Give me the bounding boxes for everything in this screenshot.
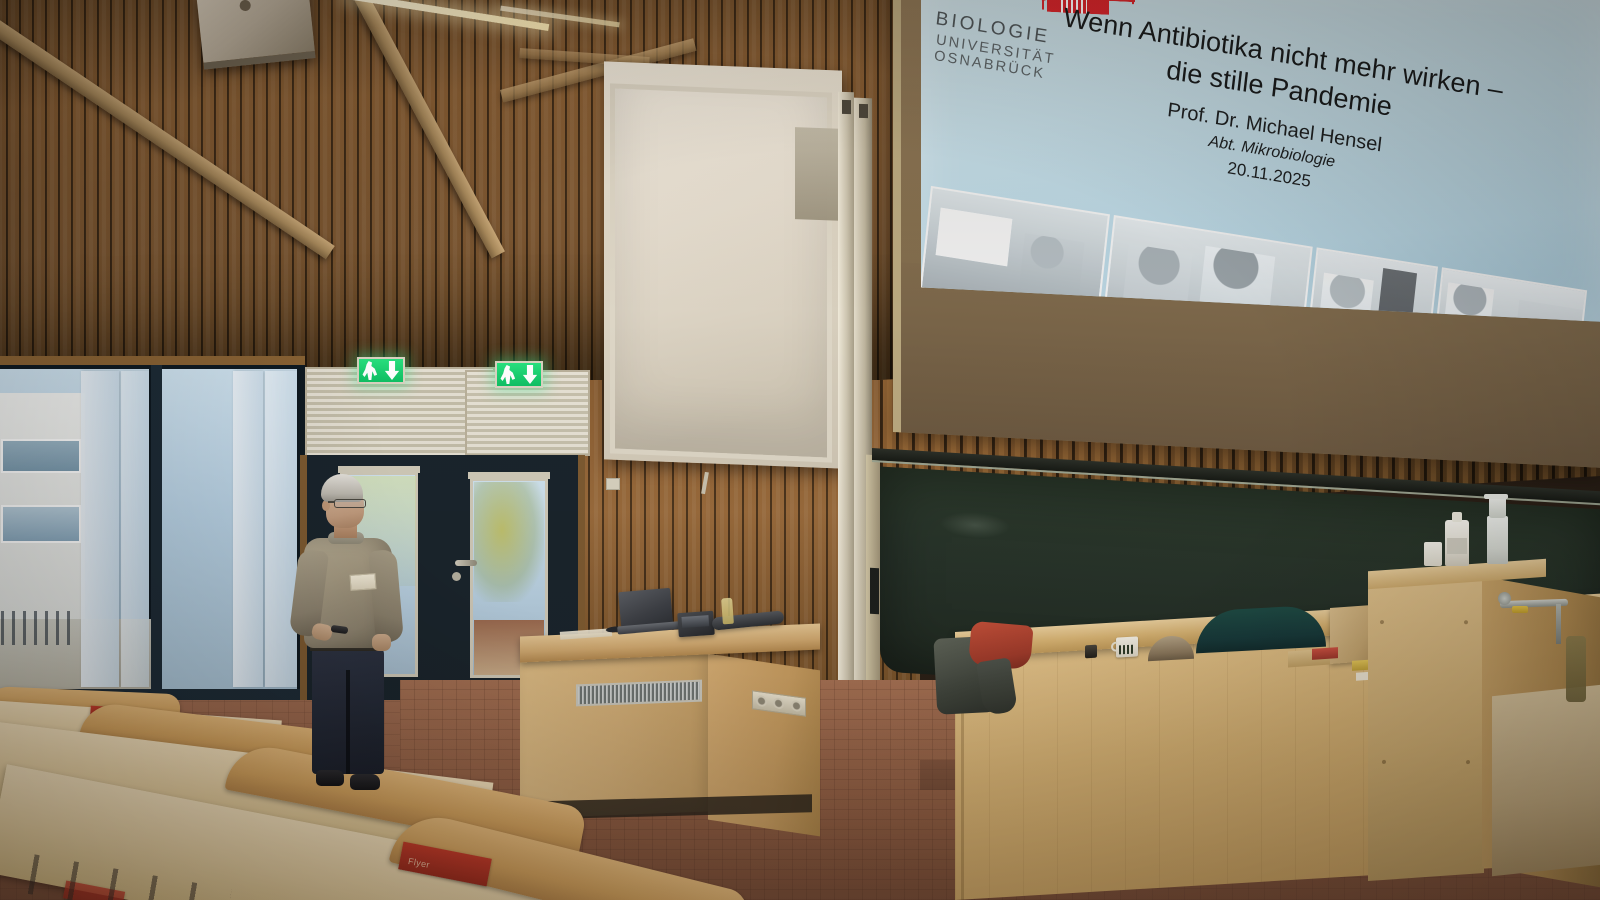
coffee-mug[interactable] <box>1116 636 1138 657</box>
down-arrow-icon <box>522 365 539 384</box>
chalk-smudge <box>940 510 1010 540</box>
water-bottle[interactable] <box>721 598 734 625</box>
presenter-glasses <box>334 499 366 508</box>
outside-bicycles <box>1 611 77 645</box>
door-lock-plate[interactable] <box>452 572 461 581</box>
lecture-hall-photo: Sc BIOLOGIE UNIVERSITÄT OSNABRÜCK Wenn A… <box>0 0 1600 900</box>
door-frame-top-right <box>468 472 550 479</box>
power-outlet-icon[interactable] <box>756 695 767 708</box>
cleaning-brush[interactable] <box>1566 636 1586 702</box>
faucet-valve[interactable] <box>1498 592 1511 605</box>
window-blind-panel[interactable] <box>121 371 149 687</box>
door-outside-view-right <box>474 482 544 602</box>
draped-jacket[interactable] <box>933 619 1048 717</box>
outside-building <box>0 393 85 623</box>
small-bottle[interactable] <box>1424 542 1442 566</box>
logo-tree-icon <box>1125 0 1139 4</box>
screw-icon <box>1466 760 1470 764</box>
presenter-shoe-right <box>350 774 380 790</box>
running-man-icon <box>500 365 517 384</box>
presenter <box>288 474 418 800</box>
lab-bench-front-panel <box>1368 573 1484 881</box>
soap-dispenser-pump[interactable] <box>1489 496 1506 518</box>
emergency-exit-sign-left <box>357 357 405 384</box>
wall-power-socket[interactable] <box>606 478 620 490</box>
av-control-panel[interactable] <box>677 611 715 637</box>
ceiling-speaker-box <box>196 0 315 70</box>
faucet-downpipe <box>1556 604 1561 644</box>
presenter-leg-separation <box>346 670 350 774</box>
disinfectant-bottle[interactable] <box>1445 520 1469 566</box>
red-object-on-table[interactable] <box>1312 647 1338 660</box>
faucet-handle[interactable] <box>1512 606 1528 613</box>
presenter-shoe-left <box>316 770 344 786</box>
door-frame-top-left <box>338 466 420 473</box>
slide-photo-lab-technician: Foto Hermann Pentermann <box>1431 267 1587 322</box>
door-handle[interactable] <box>455 560 477 566</box>
down-arrow-icon <box>384 361 401 380</box>
bottle-label <box>1447 538 1467 554</box>
rail-clip <box>842 100 851 114</box>
wall-panel <box>795 127 843 221</box>
sliding-board-rail <box>838 92 854 773</box>
presenter-hair <box>321 474 363 502</box>
soap-dispenser-nozzle[interactable] <box>1484 494 1508 499</box>
window-blind-panel[interactable] <box>233 371 263 687</box>
presenter-hand-right <box>372 634 391 651</box>
projection-screen: Sc BIOLOGIE UNIVERSITÄT OSNABRÜCK Wenn A… <box>893 0 1600 468</box>
window-blind-panel[interactable] <box>81 371 119 687</box>
mug-handle <box>1111 642 1117 652</box>
slide-title-block: Wenn Antibiotika nicht mehr wirken – die… <box>1000 0 1554 230</box>
screw-icon <box>1382 760 1386 764</box>
emergency-exit-sign-right <box>495 361 543 388</box>
laptop[interactable] <box>616 588 676 637</box>
power-outlet-icon[interactable] <box>791 700 802 713</box>
presenter-name-badge <box>349 573 376 591</box>
sink-basin <box>1492 684 1600 876</box>
power-outlet-icon[interactable] <box>773 697 784 710</box>
presentation-slide: Sc BIOLOGIE UNIVERSITÄT OSNABRÜCK Wenn A… <box>921 0 1600 322</box>
soap-dispenser-bottle[interactable] <box>1487 516 1508 564</box>
screw-icon <box>1380 620 1384 624</box>
screw-icon <box>1464 620 1468 624</box>
running-man-icon <box>362 361 379 380</box>
small-dark-object[interactable] <box>1085 645 1097 659</box>
rail-clip <box>859 104 868 118</box>
